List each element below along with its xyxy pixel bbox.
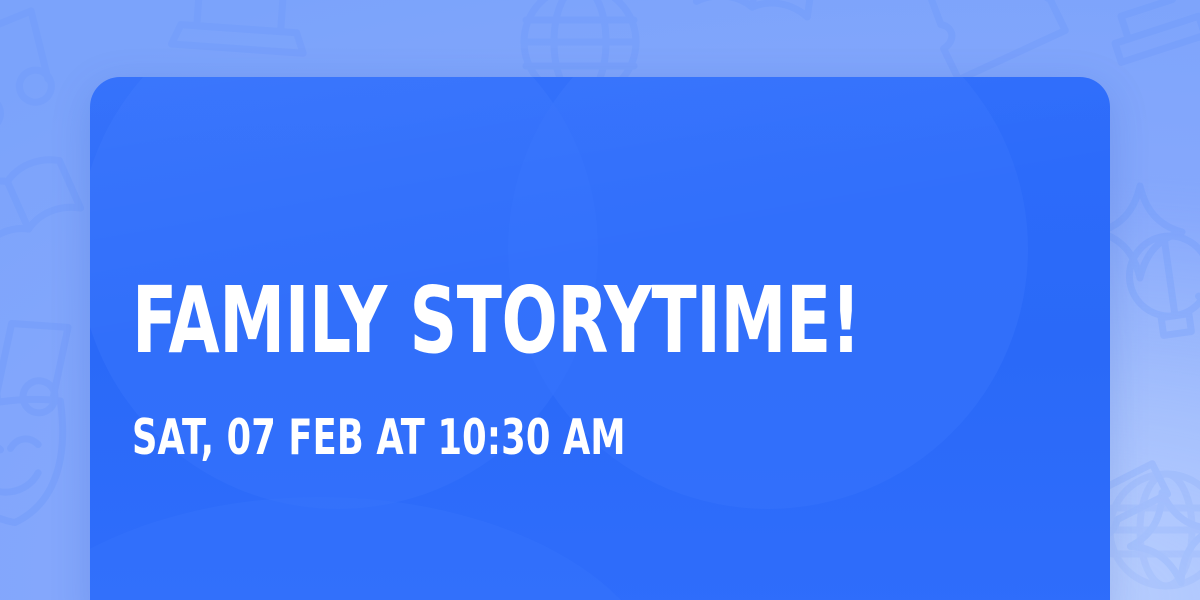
event-card: Family Storytime! Sat, 07 Feb at 10:30 A… xyxy=(90,77,1110,600)
event-card-body: Family Storytime! Sat, 07 Feb at 10:30 A… xyxy=(132,77,992,600)
event-datetime: Sat, 07 Feb at 10:30 AM xyxy=(132,413,626,462)
event-banner: Family Storytime! Sat, 07 Feb at 10:30 A… xyxy=(0,0,1200,600)
event-title: Family Storytime! xyxy=(132,275,861,367)
